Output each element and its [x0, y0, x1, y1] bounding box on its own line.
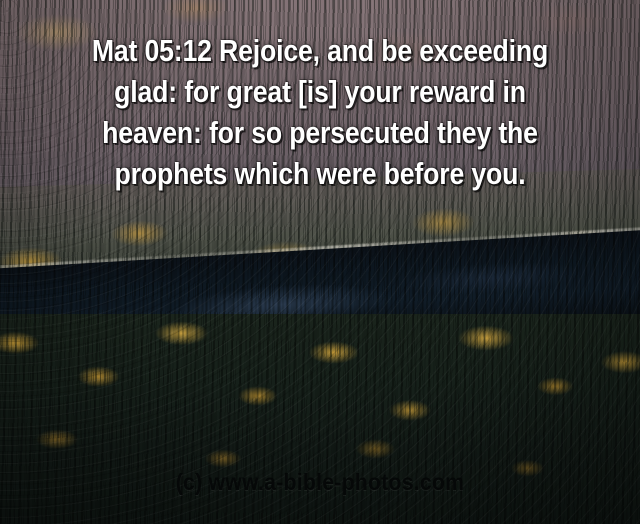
- photo-vignette: [0, 0, 640, 524]
- forest-photograph: [0, 0, 640, 524]
- bible-verse-photo: Mat 05:12 Rejoice, and be exceeding glad…: [0, 0, 640, 524]
